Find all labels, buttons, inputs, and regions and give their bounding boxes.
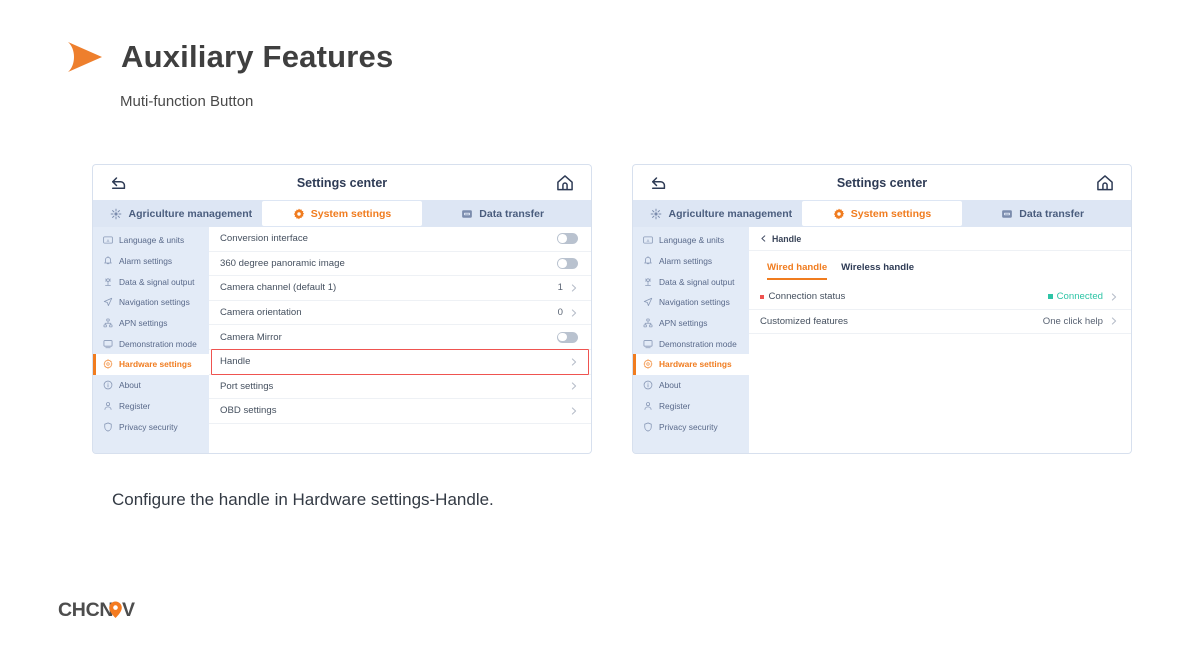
table-row[interactable]: Camera orientation 0 xyxy=(209,301,591,326)
sidebar-item-label: Alarm settings xyxy=(659,256,712,266)
sidebar-item-apn-settings[interactable]: APN settings xyxy=(93,313,209,334)
sidebar-item-label: APN settings xyxy=(659,318,707,328)
sidebar-item-about[interactable]: About xyxy=(633,375,749,396)
row-label: Connection status xyxy=(769,291,846,302)
tab-data-transfer[interactable]: Data transfer xyxy=(422,200,583,227)
sidebar-item-label: Data & signal output xyxy=(119,277,194,287)
alarm-icon xyxy=(103,256,113,266)
row-label: Port settings xyxy=(220,381,570,392)
connection-status-value-wrap: Connected xyxy=(1048,291,1103,302)
device-screen-right: Settings center Agriculture management xyxy=(633,165,1131,453)
settings-list-left: Conversion interface 360 degree panorami… xyxy=(209,227,591,453)
language-icon: A xyxy=(643,235,653,245)
apn-network-icon xyxy=(643,318,653,328)
screen-body-right: A Language & units Alarm settings xyxy=(633,227,1131,453)
row-label: Camera Mirror xyxy=(220,332,557,343)
row-label-wrap: Connection status xyxy=(760,291,1048,302)
chevron-left-icon[interactable] xyxy=(760,235,767,242)
signal-output-icon xyxy=(643,277,653,287)
row-label: OBD settings xyxy=(220,405,570,416)
screen-title: Settings center xyxy=(93,176,591,190)
table-row[interactable]: Customized features One click help xyxy=(749,310,1131,335)
handle-detail-rows: Connection status Connected Customized f… xyxy=(749,285,1131,334)
sidebar-item-label: Demonstration mode xyxy=(119,339,197,349)
sidebar-item-register[interactable]: Register xyxy=(93,396,209,417)
language-icon: A xyxy=(103,235,113,245)
row-label: Conversion interface xyxy=(220,233,557,244)
chevron-right-icon xyxy=(1110,317,1118,325)
sidebar-item-label: Hardware settings xyxy=(119,359,192,369)
sidebar-left: A Language & units Alarm settings xyxy=(93,227,209,453)
back-arrow-icon[interactable] xyxy=(109,173,129,193)
page-title: Auxiliary Features xyxy=(121,39,393,75)
navigation-icon xyxy=(643,297,653,307)
navigation-icon xyxy=(103,297,113,307)
demo-mode-icon xyxy=(643,339,653,349)
user-icon xyxy=(643,401,653,411)
tab-label: Agriculture management xyxy=(668,208,792,220)
handle-detail-panel: Handle Wired handle Wireless handle Conn… xyxy=(749,227,1131,453)
signal-output-icon xyxy=(103,277,113,287)
tab-label: Agriculture management xyxy=(128,208,252,220)
sidebar-item-data-signal-output[interactable]: Data & signal output xyxy=(93,271,209,292)
sidebar-item-language-units[interactable]: A Language & units xyxy=(633,230,749,251)
back-arrow-icon[interactable] xyxy=(649,173,669,193)
sidebar-item-privacy-security[interactable]: Privacy security xyxy=(633,416,749,437)
tab-label: System settings xyxy=(311,208,392,220)
breadcrumb[interactable]: Handle xyxy=(749,227,1131,251)
slide-root: Auxiliary Features Muti-function Button … xyxy=(0,0,1195,668)
screen-title: Settings center xyxy=(633,176,1131,190)
row-value: 1 xyxy=(558,282,563,293)
table-row[interactable]: Port settings xyxy=(209,375,591,400)
demo-mode-icon xyxy=(103,339,113,349)
shield-icon xyxy=(643,422,653,432)
row-label: Camera orientation xyxy=(220,307,558,318)
handle-subtabs: Wired handle Wireless handle xyxy=(749,251,1131,280)
table-row[interactable]: Camera Mirror xyxy=(209,325,591,350)
sidebar-item-label: Navigation settings xyxy=(119,297,190,307)
hardware-gear-icon xyxy=(103,359,113,369)
status-indicator-icon xyxy=(1048,294,1053,299)
status-badge: Connected xyxy=(1057,291,1103,302)
chcnav-logo-icon: CHCN V xyxy=(58,598,152,622)
breadcrumb-label: Handle xyxy=(772,234,801,244)
sidebar-item-navigation-settings[interactable]: Navigation settings xyxy=(93,292,209,313)
chevron-right-icon xyxy=(570,284,578,292)
sidebar-item-label: APN settings xyxy=(119,318,167,328)
sidebar-item-label: Privacy security xyxy=(659,422,718,432)
sidebar-item-register[interactable]: Register xyxy=(633,396,749,417)
conversion-interface-toggle[interactable] xyxy=(557,233,578,244)
data-transfer-icon xyxy=(461,208,473,220)
logo-text-part1: CHCN xyxy=(58,599,113,621)
table-row[interactable]: OBD settings xyxy=(209,399,591,424)
apn-network-icon xyxy=(103,318,113,328)
sidebar-item-label: Data & signal output xyxy=(659,277,734,287)
table-row[interactable]: 360 degree panoramic image xyxy=(209,252,591,277)
shield-icon xyxy=(103,422,113,432)
row-value: 0 xyxy=(558,307,563,318)
screen-header-right: Settings center xyxy=(633,165,1131,200)
sidebar-item-label: Hardware settings xyxy=(659,359,732,369)
sidebar-item-label: Demonstration mode xyxy=(659,339,737,349)
data-transfer-icon xyxy=(1001,208,1013,220)
tabbar-left: Agriculture management System settings D… xyxy=(93,200,591,227)
svg-text:A: A xyxy=(647,238,650,243)
sidebar-item-label: Register xyxy=(659,401,690,411)
tab-label: System settings xyxy=(851,208,932,220)
chevron-right-icon xyxy=(1110,293,1118,301)
tab-agriculture-management[interactable]: Agriculture management xyxy=(101,200,262,227)
sidebar-item-label: About xyxy=(119,380,141,390)
sidebar-item-label: Language & units xyxy=(119,235,184,245)
row-label: Camera channel (default 1) xyxy=(220,282,558,293)
screen-header-left: Settings center xyxy=(93,165,591,200)
sidebar-item-hardware-settings[interactable]: Hardware settings xyxy=(633,354,749,375)
sidebar-item-label: Privacy security xyxy=(119,422,178,432)
sidebar-item-label: Language & units xyxy=(659,235,724,245)
row-value: One click help xyxy=(1043,316,1103,327)
title-row: Auxiliary Features xyxy=(65,38,393,76)
sidebar-item-alarm-settings[interactable]: Alarm settings xyxy=(633,251,749,272)
gear-icon xyxy=(833,208,845,220)
sidebar-item-language-units[interactable]: A Language & units xyxy=(93,230,209,251)
sidebar-item-label: Alarm settings xyxy=(119,256,172,266)
sidebar-item-alarm-settings[interactable]: Alarm settings xyxy=(93,251,209,272)
table-row-handle[interactable]: Handle xyxy=(209,350,591,375)
tabbar-right: Agriculture management System settings D… xyxy=(633,200,1131,227)
sidebar-item-apn-settings[interactable]: APN settings xyxy=(633,313,749,334)
gear-icon xyxy=(293,208,305,220)
chevron-right-icon xyxy=(570,382,578,390)
subtab-wireless-handle[interactable]: Wireless handle xyxy=(841,262,914,280)
row-label: 360 degree panoramic image xyxy=(220,258,557,269)
subtab-wired-handle[interactable]: Wired handle xyxy=(767,262,827,280)
sidebar-item-hardware-settings[interactable]: Hardware settings xyxy=(93,354,209,375)
alarm-icon xyxy=(643,256,653,266)
agriculture-icon xyxy=(110,208,122,220)
camera-mirror-toggle[interactable] xyxy=(557,332,578,343)
orange-arrow-marker-icon xyxy=(65,38,105,76)
tab-label: Data transfer xyxy=(1019,208,1084,220)
page-subtitle: Muti-function Button xyxy=(120,93,253,110)
slide-caption: Configure the handle in Hardware setting… xyxy=(112,490,494,510)
required-dot-icon xyxy=(760,295,764,299)
hardware-gear-icon xyxy=(643,359,653,369)
sidebar-item-label: Register xyxy=(119,401,150,411)
chevron-right-icon xyxy=(570,309,578,317)
tab-agriculture-management[interactable]: Agriculture management xyxy=(641,200,802,227)
svg-text:A: A xyxy=(107,238,110,243)
row-label-wrap: Customized features xyxy=(760,316,1043,327)
tab-system-settings[interactable]: System settings xyxy=(802,201,963,226)
sidebar-right: A Language & units Alarm settings xyxy=(633,227,749,453)
sidebar-item-navigation-settings[interactable]: Navigation settings xyxy=(633,292,749,313)
subtab-label: Wireless handle xyxy=(841,262,914,273)
device-screen-left: Settings center Agriculture management xyxy=(93,165,591,453)
sidebar-item-demonstration-mode[interactable]: Demonstration mode xyxy=(93,333,209,354)
logo-text-part2: V xyxy=(122,599,135,621)
home-icon[interactable] xyxy=(1095,173,1115,193)
user-icon xyxy=(103,401,113,411)
sidebar-item-label: About xyxy=(659,380,681,390)
info-icon xyxy=(103,380,113,390)
table-row[interactable]: Camera channel (default 1) 1 xyxy=(209,276,591,301)
tab-label: Data transfer xyxy=(479,208,544,220)
sidebar-item-privacy-security[interactable]: Privacy security xyxy=(93,416,209,437)
sidebar-item-label: Navigation settings xyxy=(659,297,730,307)
sidebar-item-demonstration-mode[interactable]: Demonstration mode xyxy=(633,333,749,354)
row-label: Customized features xyxy=(760,316,848,327)
subtab-label: Wired handle xyxy=(767,262,827,273)
row-label: Handle xyxy=(220,356,570,367)
chevron-right-icon xyxy=(570,407,578,415)
tab-data-transfer[interactable]: Data transfer xyxy=(962,200,1123,227)
table-row[interactable]: Connection status Connected xyxy=(749,285,1131,310)
sidebar-item-about[interactable]: About xyxy=(93,375,209,396)
agriculture-icon xyxy=(650,208,662,220)
info-icon xyxy=(643,380,653,390)
tab-system-settings[interactable]: System settings xyxy=(262,201,423,226)
sidebar-item-data-signal-output[interactable]: Data & signal output xyxy=(633,271,749,292)
brand-logo: CHCN V xyxy=(58,598,152,622)
chevron-right-icon xyxy=(570,358,578,366)
table-row[interactable]: Conversion interface xyxy=(209,227,591,252)
home-icon[interactable] xyxy=(555,173,575,193)
screen-body-left: A Language & units Alarm settings xyxy=(93,227,591,453)
panoramic-image-toggle[interactable] xyxy=(557,258,578,269)
